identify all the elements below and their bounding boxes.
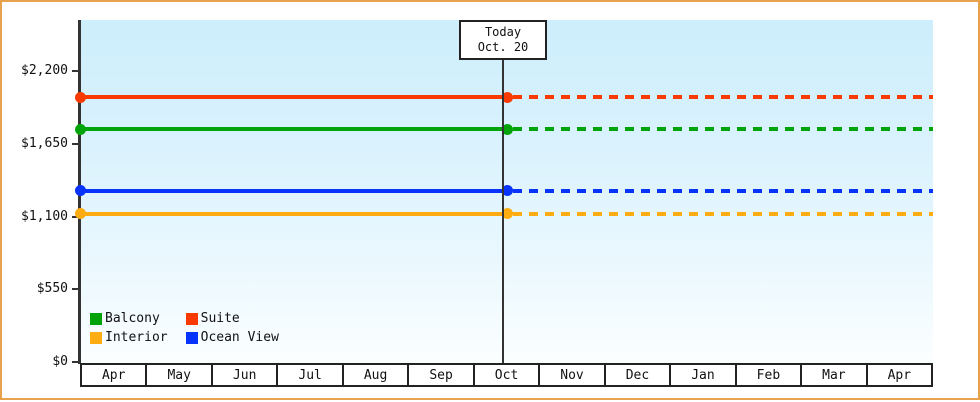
today-annotation-line1: Today xyxy=(485,25,521,40)
x-axis-month-cell[interactable]: Jun xyxy=(213,365,278,385)
today-vertical-line xyxy=(502,20,504,363)
legend-label: Ocean View xyxy=(201,331,279,344)
y-tick-label: $1,100 xyxy=(21,210,68,223)
chart-legend: BalconySuiteInteriorOcean View xyxy=(90,312,279,344)
series-line-solid-balcony xyxy=(80,127,507,131)
series-line-forecast-suite xyxy=(513,95,934,99)
series-line-forecast-ocean-view xyxy=(513,189,934,193)
legend-item-interior[interactable]: Interior xyxy=(90,331,168,344)
x-axis-month-cell[interactable]: Sep xyxy=(409,365,474,385)
y-tick-mark xyxy=(72,143,81,145)
x-axis-month-cell[interactable]: Jul xyxy=(278,365,343,385)
legend-swatch-icon xyxy=(90,313,102,325)
series-marker-start-suite xyxy=(75,92,86,103)
series-line-forecast-interior xyxy=(513,212,934,216)
series-line-solid-ocean-view xyxy=(80,189,507,193)
x-axis-month-cell[interactable]: Nov xyxy=(540,365,605,385)
x-axis-month-cell[interactable]: Apr xyxy=(82,365,147,385)
legend-item-suite[interactable]: Suite xyxy=(186,312,279,325)
x-axis-month-strip: AprMayJunJulAugSepOctNovDecJanFebMarApr xyxy=(80,363,933,387)
x-axis-month-cell[interactable]: Apr xyxy=(868,365,933,385)
series-line-forecast-balcony xyxy=(513,127,934,131)
legend-label: Balcony xyxy=(105,312,160,325)
y-tick-label: $2,200 xyxy=(21,64,68,77)
x-axis-month-cell[interactable]: May xyxy=(147,365,212,385)
x-axis-month-cell[interactable]: Dec xyxy=(606,365,671,385)
legend-swatch-icon xyxy=(90,332,102,344)
legend-swatch-icon xyxy=(186,332,198,344)
y-tick-mark xyxy=(72,288,81,290)
x-axis-month-cell[interactable]: Feb xyxy=(737,365,802,385)
y-tick-label: $0 xyxy=(52,355,68,368)
legend-swatch-icon xyxy=(186,313,198,325)
y-tick-label: $550 xyxy=(37,282,68,295)
y-tick-label: $1,650 xyxy=(21,137,68,150)
legend-label: Suite xyxy=(201,312,240,325)
series-line-solid-interior xyxy=(80,212,507,216)
today-annotation-line2: Oct. 20 xyxy=(478,40,529,55)
today-annotation-box: Today Oct. 20 xyxy=(459,20,547,60)
legend-label: Interior xyxy=(105,331,168,344)
x-axis-month-cell[interactable]: Jan xyxy=(671,365,736,385)
legend-item-balcony[interactable]: Balcony xyxy=(90,312,168,325)
legend-item-ocean-view[interactable]: Ocean View xyxy=(186,331,279,344)
chart-page-frame: $0$550$1,100$1,650$2,200 Today Oct. 20 B… xyxy=(0,0,980,400)
x-axis-month-cell[interactable]: Mar xyxy=(802,365,867,385)
y-tick-mark xyxy=(72,70,81,72)
series-marker-start-balcony xyxy=(75,124,86,135)
rate-history-chart: $0$550$1,100$1,650$2,200 Today Oct. 20 B… xyxy=(2,2,980,402)
x-axis-month-cell[interactable]: Aug xyxy=(344,365,409,385)
x-axis-month-cell[interactable]: Oct xyxy=(475,365,540,385)
series-line-solid-suite xyxy=(80,95,507,99)
